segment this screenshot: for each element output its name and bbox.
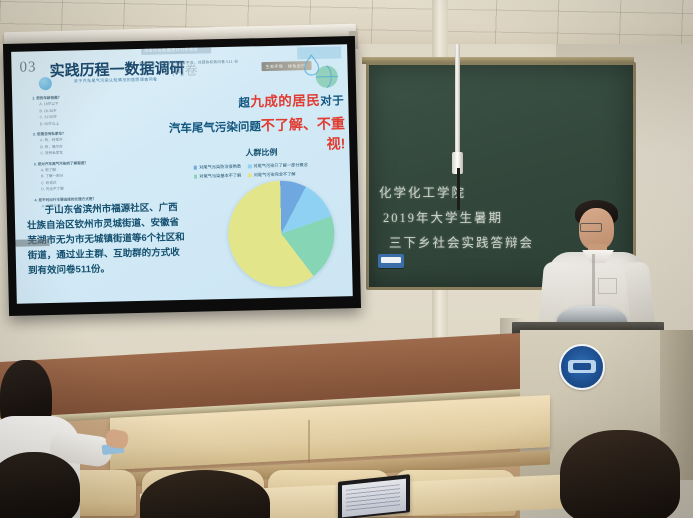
legend-item-1: 对尾气污染只了解一部分概念 bbox=[248, 162, 308, 169]
legend-swatch-3 bbox=[248, 174, 251, 177]
slide-section-number: 03 bbox=[19, 59, 36, 76]
pie-chart bbox=[227, 180, 335, 288]
slide-top-watermark-text: 调查问卷数据统计分析报告 bbox=[144, 47, 198, 54]
headline-prefix: 超 bbox=[238, 97, 250, 109]
eyeglasses-icon bbox=[580, 223, 602, 232]
globe-waterdrop-icon bbox=[301, 48, 342, 93]
audience-member bbox=[140, 470, 270, 518]
audience-member bbox=[0, 452, 80, 518]
legend-label-3: 对尾气污染完全不了解 bbox=[254, 171, 296, 178]
question-1-option-d: D. 50岁以上 bbox=[33, 119, 133, 128]
legend-swatch-1 bbox=[248, 165, 251, 168]
slide-body-watermark bbox=[15, 239, 49, 247]
legend-label-0: 对尾气污染防治很熟悉 bbox=[199, 164, 241, 171]
headline-suffix: 对于 bbox=[320, 95, 344, 108]
questionnaire-list: 1. 您的年龄段是？ A. 18岁以下 B. 18-30岁 C. 31-50岁 … bbox=[32, 89, 135, 210]
slide-sub-note: 关于汽车尾气污染认知情况的居民调查问卷 bbox=[74, 77, 158, 85]
projection-screen: 调查问卷数据统计分析报告 03 实践历程一数据调研 问卷 数据来源：问卷星在线调… bbox=[3, 36, 361, 316]
chalk-box bbox=[378, 254, 404, 268]
pole-tip bbox=[457, 168, 460, 210]
audience-laptop[interactable] bbox=[338, 478, 414, 518]
slide-body-text: 于山东省滨州市福源社区、广西壮族自治区钦州市灵城街道、安徽省芜湖市无为市无城镇街… bbox=[27, 200, 189, 279]
classroom-scene: 化学化工学院 2019年大学生暑期 三下乡社会实践答辩会 PROJECTOR 调… bbox=[0, 0, 693, 518]
legend-label-1: 对尾气污染只了解一部分概念 bbox=[253, 162, 308, 169]
legend-item-2: 对尾气污染基本不了解 bbox=[194, 173, 241, 180]
question-2-option-c: C. 没有私家车 bbox=[33, 148, 133, 157]
legend-row-1: 对尾气污染防治很熟悉 对尾气污染只了解一部分概念 bbox=[194, 161, 346, 170]
headline-line2-prefix: 汽车尾气污染问题 bbox=[169, 121, 261, 135]
university-emblem-icon bbox=[559, 344, 605, 390]
question-3-option-d: D. 完全不了解 bbox=[34, 184, 134, 193]
audience-head bbox=[140, 470, 270, 518]
legend-item-0: 对尾气污染防治很熟悉 bbox=[194, 164, 241, 171]
legend-label-2: 对尾气污染基本不了解 bbox=[199, 173, 241, 180]
headline-emphasis-1: 九成的居民 bbox=[250, 93, 320, 110]
audience-head bbox=[560, 430, 680, 518]
chart-legend: 对尾气污染防治很熟悉 对尾气污染只了解一部分概念 对尾气污染基本不了解 对尾气污… bbox=[194, 161, 346, 182]
headline-line-1: 超九成的居民对于 bbox=[162, 88, 344, 112]
slide-badge-text: 生态环保 · 绿色出行 bbox=[265, 63, 305, 70]
legend-item-3: 对尾气污染完全不了解 bbox=[248, 171, 295, 178]
legend-swatch-2 bbox=[194, 175, 197, 178]
legend-swatch-0 bbox=[194, 166, 197, 169]
audience-head bbox=[0, 452, 80, 518]
shirt-pocket bbox=[598, 278, 617, 294]
chart-title: 人群比例 bbox=[245, 147, 277, 159]
legend-row-2: 对尾气污染基本不了解 对尾气污染完全不了解 bbox=[194, 170, 346, 179]
presentation-slide: 调查问卷数据统计分析报告 03 实践历程一数据调研 问卷 数据来源：问卷星在线调… bbox=[11, 44, 353, 304]
audience-member bbox=[560, 430, 680, 518]
